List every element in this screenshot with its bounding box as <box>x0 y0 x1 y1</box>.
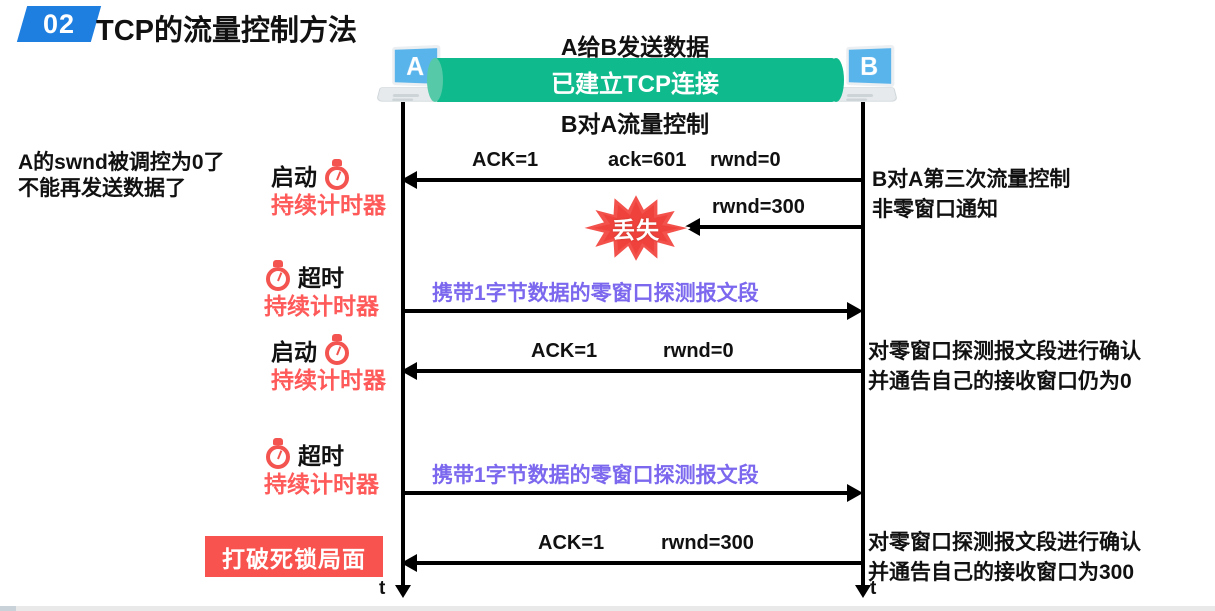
pipe-label: 已建立TCP连接 <box>435 64 835 99</box>
section-number-text: 02 <box>22 6 96 42</box>
persistence-timer-timeout-1: 超时 持续计时器 <box>264 259 379 319</box>
msg3-line <box>401 309 847 313</box>
msg1-ack-number: ack=601 <box>608 149 686 172</box>
deadlock-broken-label: 打破死锁局面 <box>222 540 366 574</box>
msg1-rwnd: rwnd=0 <box>710 149 781 172</box>
timer-timeout-2-sublabel: 持续计时器 <box>264 471 379 497</box>
msg6-line <box>417 561 863 565</box>
right-note-probe-ack-300: 对零窗口探测报文段进行确认 并通告自己的接收窗口为300 <box>868 528 1141 588</box>
section-number-badge: 02 <box>17 6 101 42</box>
right-note-probe-ack-zero: 对零窗口探测报文段进行确认 并通告自己的接收窗口仍为0 <box>868 337 1141 397</box>
timeline-host-b <box>861 102 865 587</box>
timer-start-1-row: 启动 <box>271 158 386 192</box>
host-b-keyboard <box>847 94 874 97</box>
msg6-arrow-left-icon <box>401 554 417 572</box>
deadlock-broken-box: 打破死锁局面 <box>205 536 383 577</box>
msg4-arrow-left-icon <box>401 362 417 380</box>
msg4-ack-flag: ACK=1 <box>531 340 597 363</box>
right-note-2-line1: 对零窗口探测报文段进行确认 <box>868 337 1141 367</box>
caption-a-sends-data: A给B发送数据 <box>455 28 815 62</box>
msg5-line <box>401 491 847 495</box>
lost-starburst-label: 丢失 <box>580 192 692 264</box>
right-note-third-flow-control: B对A第三次流量控制 非零窗口通知 <box>872 165 1070 225</box>
msg5-arrow-right-icon <box>847 484 863 502</box>
timer-timeout-1-row: 超时 <box>264 259 379 293</box>
host-a-label: A <box>406 53 424 80</box>
msg1-ack-flag: ACK=1 <box>472 149 538 172</box>
msg3-probe-label: 携带1字节数据的零窗口探测报文段 <box>432 277 759 307</box>
persistence-timer-start-1: 启动 持续计时器 <box>271 158 386 218</box>
timer-timeout-1-sublabel: 持续计时器 <box>264 293 379 319</box>
timer-timeout-1-label: 超时 <box>298 259 344 293</box>
timer-timeout-2-label: 超时 <box>298 437 344 471</box>
msg4-rwnd: rwnd=0 <box>663 340 734 363</box>
caption-b-flow-control: B对A流量控制 <box>455 105 815 139</box>
msg2-line <box>700 225 863 229</box>
stopwatch-icon <box>264 438 292 470</box>
msg3-arrow-right-icon <box>847 302 863 320</box>
msg4-line <box>417 369 863 373</box>
stopwatch-icon <box>323 159 351 191</box>
stopwatch-icon <box>264 260 292 292</box>
lost-starburst: 丢失 <box>580 192 692 264</box>
host-b-trackpad <box>846 98 867 100</box>
stopwatch-icon <box>323 334 351 366</box>
note-swnd-zero: A的swnd被调控为0了 不能再发送数据了 <box>18 150 225 202</box>
host-b-label: B <box>860 53 878 80</box>
time-axis-label-a: t <box>379 578 385 600</box>
timer-start-1-label: 启动 <box>271 158 317 192</box>
note-swnd-zero-line2: 不能再发送数据了 <box>18 176 225 202</box>
right-note-3-line2: 并通告自己的接收窗口为300 <box>868 558 1141 588</box>
host-b-screen: B <box>846 45 894 87</box>
msg1-line <box>417 178 863 182</box>
slide-canvas: 02 TCP的流量控制方法 A B 已建立TCP连接 A给B发送数据 B对A流量… <box>0 0 1215 611</box>
timer-start-2-row: 启动 <box>271 333 386 367</box>
timer-start-2-sublabel: 持续计时器 <box>271 367 386 393</box>
right-note-2-line2: 并通告自己的接收窗口仍为0 <box>868 367 1141 397</box>
host-a-keyboard <box>393 94 420 97</box>
host-a-trackpad <box>392 98 413 100</box>
timer-start-2-label: 启动 <box>271 333 317 367</box>
bottom-divider-accent <box>0 606 16 611</box>
right-note-1-line2: 非零窗口通知 <box>872 195 1070 225</box>
persistence-timer-timeout-2: 超时 持续计时器 <box>264 437 379 497</box>
note-swnd-zero-line1: A的swnd被调控为0了 <box>18 150 225 176</box>
msg2-rwnd: rwnd=300 <box>712 196 805 219</box>
msg1-arrow-left-icon <box>401 171 417 189</box>
persistence-timer-start-2: 启动 持续计时器 <box>271 333 386 393</box>
msg5-probe-label: 携带1字节数据的零窗口探测报文段 <box>432 459 759 489</box>
bottom-divider <box>0 606 1215 611</box>
msg6-rwnd: rwnd=300 <box>661 532 754 555</box>
msg6-ack-flag: ACK=1 <box>538 532 604 555</box>
timer-timeout-2-row: 超时 <box>264 437 379 471</box>
right-note-3-line1: 对零窗口探测报文段进行确认 <box>868 528 1141 558</box>
page-title: TCP的流量控制方法 <box>96 7 357 49</box>
right-note-1-line1: B对A第三次流量控制 <box>872 165 1070 195</box>
timeline-a-arrow-icon <box>395 585 411 598</box>
timer-start-1-sublabel: 持续计时器 <box>271 192 386 218</box>
